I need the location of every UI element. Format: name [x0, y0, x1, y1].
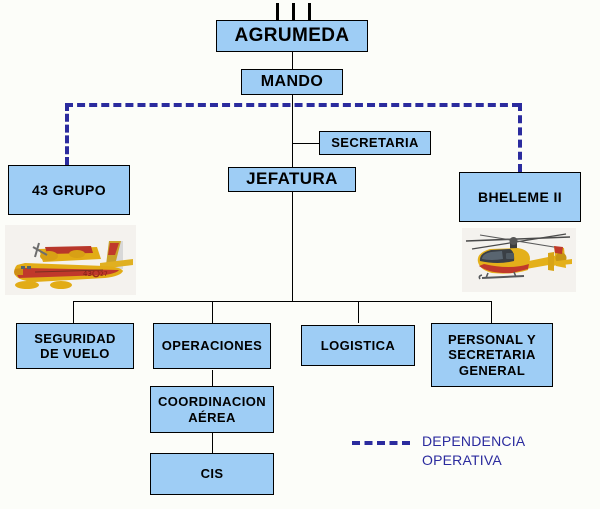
node-agrumeda-label: AGRUMEDA: [234, 25, 349, 47]
node-secretaria[interactable]: SECRETARIA: [319, 131, 431, 155]
top-tick-1: [276, 3, 279, 20]
node-cis-label: CIS: [201, 466, 224, 481]
node-seguridad-de-vuelo[interactable]: SEGURIDAD DE VUELO: [16, 323, 134, 369]
eurocopter-helicopter-photo: [462, 228, 576, 292]
node-bheleme-ii-label: BHELEME II: [478, 189, 562, 206]
legend: DEPENDENCIA OPERATIVA: [352, 432, 572, 470]
aircraft-marking: 43: [83, 270, 92, 278]
legend-dashed-line-swatch: [352, 441, 410, 445]
dashed-drop-bheleme: [518, 103, 522, 172]
top-tick-2: [292, 3, 295, 20]
top-tick-3: [308, 3, 311, 20]
drop-personal: [491, 301, 492, 323]
node-mando-label: MANDO: [261, 73, 323, 92]
node-jefatura[interactable]: JEFATURA: [228, 167, 356, 192]
node-seguridad-de-vuelo-label: SEGURIDAD DE VUELO: [34, 331, 116, 362]
node-logistica[interactable]: LOGISTICA: [301, 325, 415, 366]
node-personal-label: PERSONAL Y SECRETARIA GENERAL: [448, 332, 536, 378]
node-43-grupo-label: 43 GRUPO: [32, 182, 106, 199]
node-43-grupo[interactable]: 43 GRUPO: [8, 165, 130, 215]
svg-text:27: 27: [100, 271, 108, 278]
drop-logistica: [358, 301, 359, 323]
node-jefatura-label: JEFATURA: [246, 169, 338, 189]
drop-seguridad: [73, 301, 74, 323]
org-chart: AGRUMEDA MANDO SECRETARIA JEFATURA 43 GR…: [0, 0, 600, 509]
canadair-water-bomber-photo: 43 27: [5, 225, 136, 295]
edge-jefatura-bus: [292, 192, 293, 301]
edge-operaciones-coordinacion: [212, 370, 213, 386]
node-bheleme-ii[interactable]: BHELEME II: [459, 172, 581, 222]
bottom-bus: [73, 301, 491, 302]
node-secretaria-label: SECRETARIA: [331, 135, 419, 150]
node-cis[interactable]: CIS: [150, 453, 274, 495]
node-coordinacion-aerea-label: COORDINACION AÉREA: [158, 394, 266, 425]
edge-agrumeda-mando: [292, 52, 293, 69]
node-logistica-label: LOGISTICA: [321, 338, 395, 353]
node-operaciones-label: OPERACIONES: [162, 338, 262, 353]
node-operaciones[interactable]: OPERACIONES: [153, 323, 271, 369]
node-agrumeda[interactable]: AGRUMEDA: [216, 20, 368, 52]
node-coordinacion-aerea[interactable]: COORDINACION AÉREA: [150, 386, 274, 433]
edge-coordinacion-cis: [212, 433, 213, 453]
dashed-drop-grupo43: [65, 103, 69, 165]
edge-mando-secretaria: [292, 143, 319, 144]
node-personal-y-secretaria-general[interactable]: PERSONAL Y SECRETARIA GENERAL: [431, 323, 553, 387]
drop-operaciones: [212, 301, 213, 323]
legend-label: DEPENDENCIA OPERATIVA: [422, 432, 525, 470]
node-mando[interactable]: MANDO: [241, 69, 343, 95]
dashed-bus: [65, 103, 520, 107]
